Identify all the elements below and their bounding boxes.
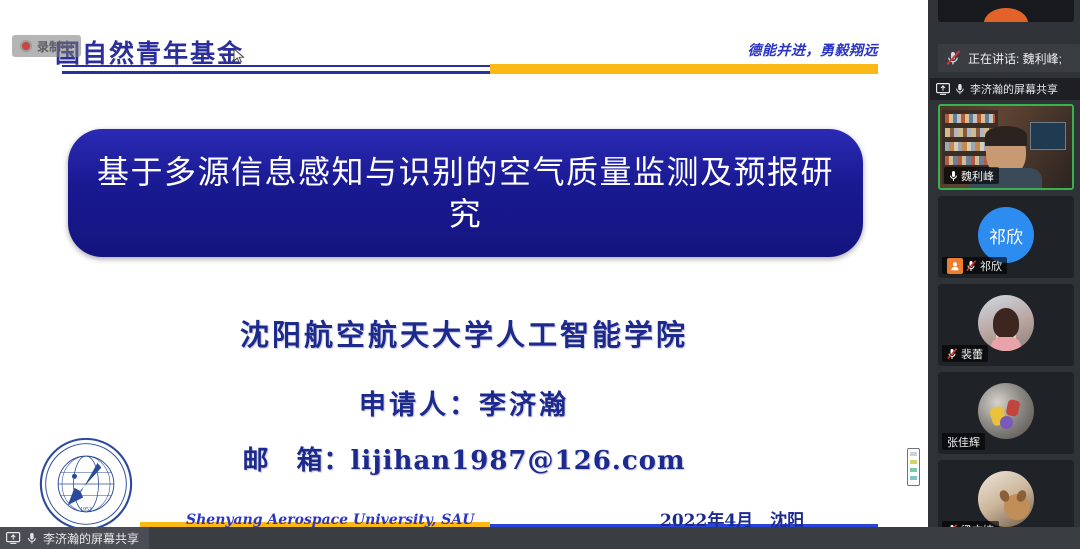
microphone-muted-icon bbox=[966, 260, 977, 272]
avatar-initials: 祁欣 bbox=[989, 223, 1023, 248]
screen-share-label: 李济瀚的屏幕共享 bbox=[970, 81, 1058, 97]
speaking-label: 正在讲话: 魏利峰; bbox=[968, 50, 1062, 67]
participant-name-chip: 张佳辉 bbox=[942, 433, 985, 450]
logo-year: 1952 bbox=[80, 507, 92, 513]
slide-email-line: 邮 箱：lijihan1987@126.com bbox=[0, 440, 928, 477]
slide-motto: 德能并进，勇毅翔远 bbox=[748, 40, 879, 60]
participant-name-chip: 裴蕾 bbox=[942, 345, 988, 362]
participant-tile-partial[interactable] bbox=[938, 0, 1074, 22]
slide-title: 基于多源信息感知与识别的空气质量监测及预报研究 bbox=[68, 151, 863, 235]
bottom-taskbar: 李济瀚的屏幕共享 bbox=[0, 527, 1080, 549]
microphone-icon bbox=[949, 170, 958, 182]
record-dot-icon bbox=[20, 40, 32, 52]
avatar: 祁欣 bbox=[978, 207, 1034, 263]
participant-tile[interactable]: 祁欣 祁欣 bbox=[938, 196, 1074, 278]
slide-applicant-line: 申请人：李济瀚 bbox=[0, 383, 928, 422]
taskbar-share-chip[interactable]: 李济瀚的屏幕共享 bbox=[0, 527, 149, 549]
microphone-muted-icon bbox=[947, 348, 958, 360]
screen-share-icon bbox=[936, 83, 950, 95]
avatar bbox=[978, 471, 1034, 527]
avatar bbox=[978, 383, 1034, 439]
participant-tile[interactable]: 张佳辉 bbox=[938, 372, 1074, 454]
active-speaker-overlay: 正在讲话: 魏利峰; bbox=[938, 44, 1080, 72]
microphone-muted-icon bbox=[946, 50, 961, 66]
participant-tile[interactable]: 裴蕾 bbox=[938, 284, 1074, 366]
participant-name-chip: 魏利峰 bbox=[944, 167, 999, 184]
header-yellow-bar bbox=[490, 64, 878, 74]
participant-name: 祁欣 bbox=[980, 258, 1002, 274]
participant-name: 魏利峰 bbox=[961, 168, 994, 184]
screen-share-strip: 李济瀚的屏幕共享 bbox=[930, 78, 1080, 100]
screen-share-icon bbox=[6, 532, 21, 544]
host-badge-icon bbox=[947, 258, 963, 274]
presentation-slide: 国自然青年基金 德能并进，勇毅翔远 基于多源信息感知与识别的空气质量监测及预报研… bbox=[0, 12, 928, 537]
participant-name: 张佳辉 bbox=[947, 434, 980, 450]
slide-college-line: 沈阳航空航天大学人工智能学院 bbox=[0, 312, 928, 354]
recording-indicator[interactable]: 录制中 bbox=[12, 35, 81, 57]
participant-name-chip: 祁欣 bbox=[942, 257, 1007, 274]
slide-title-box: 基于多源信息感知与识别的空气质量监测及预报研究 bbox=[68, 129, 863, 257]
zoom-meeting-window: 国自然青年基金 德能并进，勇毅翔远 基于多源信息感知与识别的空气质量监测及预报研… bbox=[0, 0, 1080, 549]
participant-tile[interactable]: 魏利峰 bbox=[938, 104, 1074, 190]
header-rule-top bbox=[62, 65, 490, 67]
slide-scrollbar-thumb[interactable] bbox=[907, 448, 920, 486]
participant-name: 裴蕾 bbox=[961, 346, 983, 362]
university-logo: 1952 bbox=[38, 436, 134, 532]
recording-label: 录制中 bbox=[37, 38, 73, 55]
footer-english-name: Shenyang Aerospace University, SAU bbox=[186, 512, 474, 528]
mouse-cursor-icon bbox=[233, 48, 245, 64]
microphone-icon bbox=[955, 83, 965, 95]
avatar bbox=[978, 295, 1034, 351]
header-rule-bottom bbox=[62, 71, 490, 74]
microphone-icon bbox=[27, 532, 37, 545]
shared-screen-area[interactable]: 国自然青年基金 德能并进，勇毅翔远 基于多源信息感知与识别的空气质量监测及预报研… bbox=[0, 0, 928, 549]
taskbar-share-label: 李济瀚的屏幕共享 bbox=[43, 530, 139, 547]
